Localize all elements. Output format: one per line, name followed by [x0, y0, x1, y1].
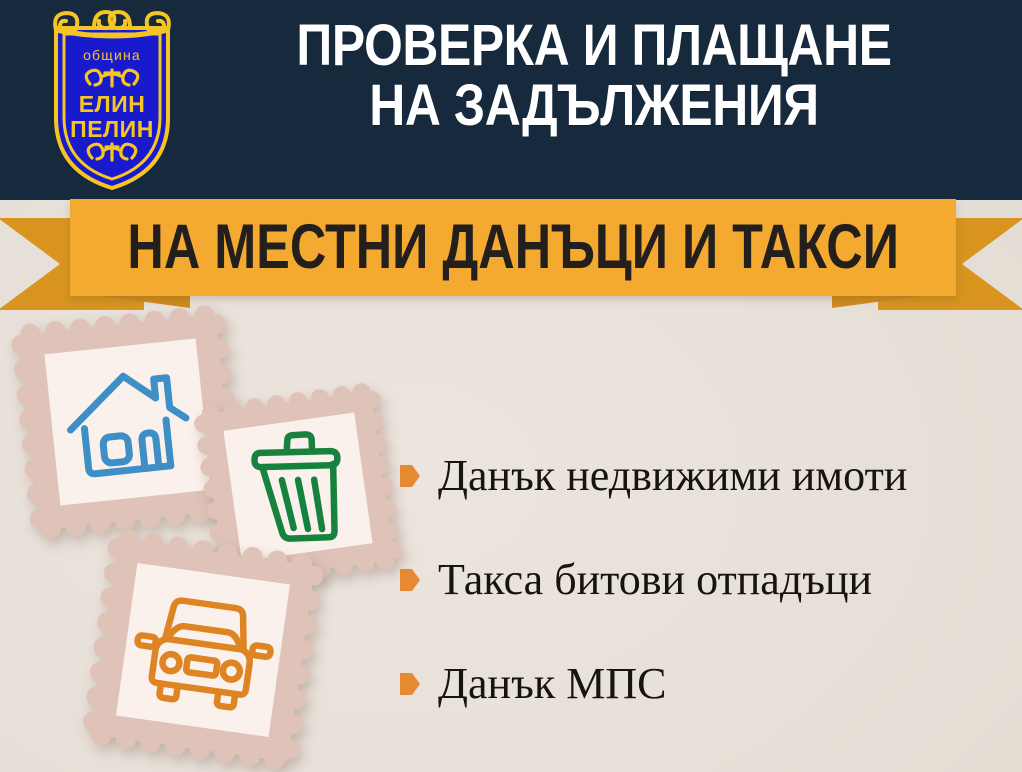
tax-type-list: Данък недвижими имоти Такса битови отпад…: [400, 424, 1010, 736]
stamp-card-vehicle-tax: [78, 525, 328, 772]
list-item-label: Данък недвижими имоти: [438, 454, 907, 498]
ribbon-band: НА МЕСТНИ ДАНЪЦИ И ТАКСИ: [70, 199, 956, 296]
page-title-line-2: НА ЗАДЪЛЖЕНИЯ: [234, 76, 955, 136]
car-stamp-svg: [78, 525, 328, 772]
svg-text:ЕЛИН: ЕЛИН: [79, 91, 146, 117]
list-item: Такса битови отпадъци: [400, 528, 1010, 632]
bullet-arrow-icon: [400, 569, 420, 591]
coat-of-arms: община ЕЛИН ПЕЛИН: [32, 6, 192, 194]
bullet-arrow-icon: [400, 465, 420, 487]
list-item-label: Данък МПС: [438, 662, 666, 706]
stamp-card-group: [0, 300, 400, 772]
ribbon-label: НА МЕСТНИ ДАНЪЦИ И ТАКСИ: [127, 216, 898, 279]
subtitle-ribbon: НА МЕСТНИ ДАНЪЦИ И ТАКСИ: [0, 196, 1022, 314]
svg-text:община: община: [83, 47, 141, 63]
stamp-face: [116, 563, 290, 737]
list-item: Данък недвижими имоти: [400, 424, 1010, 528]
bullet-arrow-icon: [400, 673, 420, 695]
coat-of-arms-icon: община ЕЛИН ПЕЛИН: [32, 6, 192, 194]
svg-text:ПЕЛИН: ПЕЛИН: [70, 116, 154, 142]
list-item-label: Такса битови отпадъци: [438, 558, 872, 602]
page-title: ПРОВЕРКА И ПЛАЩАНЕ НА ЗАДЪЛЖЕНИЯ: [234, 16, 955, 137]
poster-canvas: ПРОВЕРКА И ПЛАЩАНЕ НА ЗАДЪЛЖЕНИЯ община: [0, 0, 1022, 772]
page-title-line-1: ПРОВЕРКА И ПЛАЩАНЕ: [234, 16, 955, 76]
list-item: Данък МПС: [400, 632, 1010, 736]
stamp-face: [44, 338, 211, 505]
